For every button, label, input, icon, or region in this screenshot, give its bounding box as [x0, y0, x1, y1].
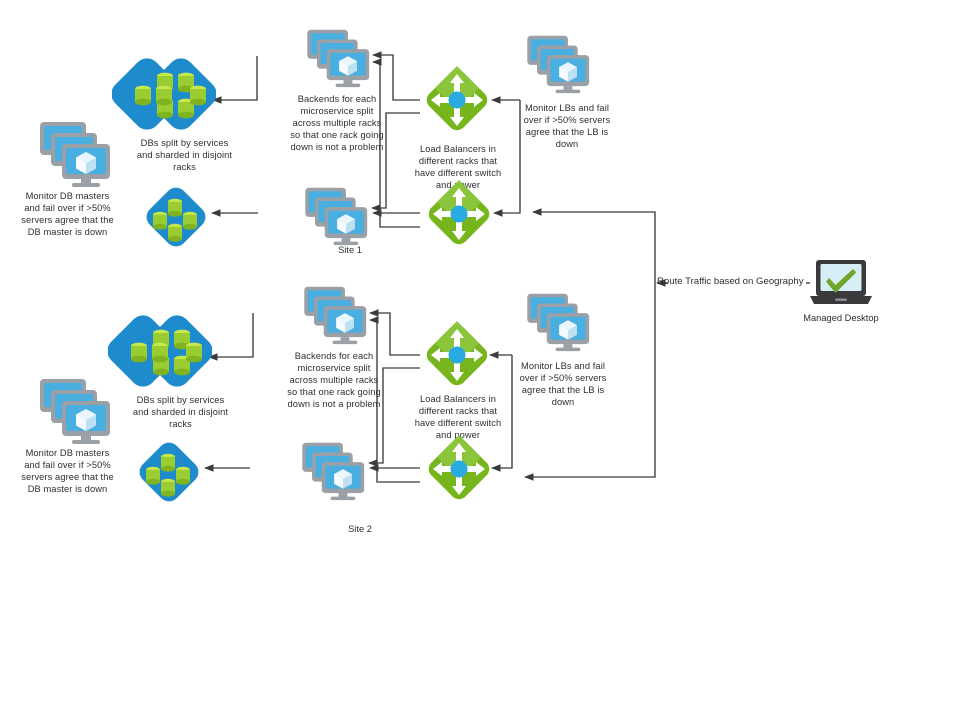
load-balancer-icon — [423, 431, 495, 507]
load-balancer-icon — [423, 176, 495, 252]
site2-lb-monitor-caption: Monitor LBs and fail over if >50% server… — [508, 360, 618, 408]
route-traffic-label: Route Traffic based on Geography — [657, 276, 804, 287]
server-stack-icon — [522, 30, 598, 98]
load-balancer-icon — [421, 317, 493, 393]
server-stack-icon — [34, 118, 120, 190]
site2-backend-lower-icon[interactable] — [297, 437, 373, 510]
site1-db-monitor-icon[interactable] — [34, 118, 120, 195]
site1-lb-monitor-icon[interactable] — [522, 30, 598, 103]
database-cluster-icon — [108, 312, 212, 390]
site2-db-cluster-caption: DBs split by services and sharded in dis… — [118, 394, 243, 430]
site1-lb-bottom-icon[interactable] — [423, 176, 495, 257]
laptop-check-icon — [808, 258, 874, 310]
server-stack-icon — [302, 24, 378, 92]
site1-db-cluster-caption: DBs split by services and sharded in dis… — [122, 137, 247, 173]
managed-desktop-icon[interactable] — [808, 258, 874, 315]
site1-label: Site 1 — [320, 245, 380, 255]
load-balancer-icon — [421, 62, 493, 138]
site2-db-monitor-caption: Monitor DB masters and fail over if >50%… — [10, 447, 125, 495]
database-cluster-small-icon — [133, 442, 205, 504]
site1-lb-monitor-caption: Monitor LBs and fail over if >50% server… — [512, 102, 622, 150]
site2-backend-top-icon[interactable] — [299, 281, 375, 354]
site2-lb-monitor-icon[interactable] — [522, 288, 598, 361]
site2-lb-bottom-icon[interactable] — [423, 431, 495, 512]
server-stack-icon — [297, 437, 373, 505]
site1-db-cluster-icon[interactable] — [112, 55, 216, 138]
database-cluster-icon — [112, 55, 216, 133]
site1-db-monitor-caption: Monitor DB masters and fail over if >50%… — [10, 190, 125, 238]
server-stack-icon — [299, 281, 375, 349]
database-cluster-small-icon — [140, 187, 212, 249]
server-stack-icon — [300, 182, 376, 250]
site2-db-cluster-icon[interactable] — [108, 312, 212, 395]
site2-label: Site 2 — [330, 524, 390, 534]
site1-backend-caption: Backends for each microservice split acr… — [277, 93, 397, 153]
diagram-canvas: Monitor DB masters and fail over if >50%… — [0, 0, 960, 720]
site1-backend-top-icon[interactable] — [302, 24, 378, 97]
server-stack-icon — [522, 288, 598, 356]
site1-db-small-icon[interactable] — [140, 187, 212, 254]
site2-lb-top-icon[interactable] — [421, 317, 493, 398]
managed-desktop-label: Managed Desktop — [786, 313, 896, 323]
site2-backend-caption: Backends for each microservice split acr… — [274, 350, 394, 410]
site1-lb-top-icon[interactable] — [421, 62, 493, 143]
site2-db-small-icon[interactable] — [133, 442, 205, 509]
